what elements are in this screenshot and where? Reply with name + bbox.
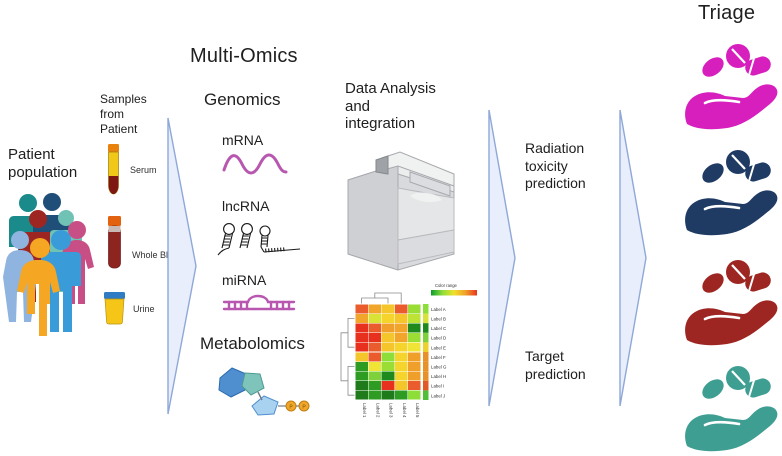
lncrna-label: lncRNA xyxy=(222,198,269,214)
mirna-duplex-icon xyxy=(220,294,298,318)
svg-text:Label G: Label G xyxy=(431,365,447,370)
sample-urine-label: Urine xyxy=(133,304,155,314)
sample-serum xyxy=(104,144,124,198)
patient-population-label: Patient population xyxy=(8,146,100,181)
triage-title: Triage xyxy=(698,2,755,25)
genomics-heading: Genomics xyxy=(204,90,281,110)
chevron-arrow-2 xyxy=(487,108,521,408)
sample-serum-label: Serum xyxy=(130,165,157,175)
metabolomics-heading: Metabolomics xyxy=(200,334,305,354)
svg-text:Label F: Label F xyxy=(431,355,446,360)
sample-urine xyxy=(101,292,129,324)
mrna-label: mRNA xyxy=(222,132,263,148)
svg-text:Label 2: Label 2 xyxy=(375,403,380,418)
multi-omics-title: Multi-Omics xyxy=(190,45,298,68)
svg-text:Label A: Label A xyxy=(431,307,446,312)
hand-navy-icon xyxy=(683,142,781,238)
mrna-wave-icon xyxy=(222,152,288,176)
chevron-arrow-1 xyxy=(166,116,202,416)
radiation-toxicity-prediction-label: Radiation toxicity prediction xyxy=(525,140,609,193)
patient-population-icon xyxy=(4,192,102,304)
heatmap-figure: Label ALabel BLabel CLabel DLabel ELabel… xyxy=(335,280,495,455)
sample-whole-blood xyxy=(104,216,126,274)
svg-text:Label 3: Label 3 xyxy=(389,403,394,418)
metabolomics-molecule-icon: P P xyxy=(212,364,322,416)
svg-text:Label H: Label H xyxy=(431,374,446,379)
svg-text:Label B: Label B xyxy=(431,317,446,322)
hand-darkred-icon xyxy=(683,252,781,348)
svg-text:Label I: Label I xyxy=(431,384,444,389)
svg-text:Color range: Color range xyxy=(435,283,458,288)
svg-text:Label J: Label J xyxy=(431,393,445,398)
lncrna-hairpin-icon xyxy=(216,222,302,258)
data-analysis-heading: Data Analysis and integration xyxy=(345,80,465,133)
hand-teal-icon xyxy=(683,358,781,454)
svg-text:Label D: Label D xyxy=(431,336,446,341)
chevron-arrow-3 xyxy=(618,108,652,408)
svg-text:Label 1: Label 1 xyxy=(362,403,367,418)
svg-text:Label E: Label E xyxy=(431,345,446,350)
mirna-label: miRNA xyxy=(222,272,266,288)
samples-from-patient-label: Samples from Patient xyxy=(100,92,162,137)
svg-text:Label 4: Label 4 xyxy=(402,403,407,418)
svg-text:Label C: Label C xyxy=(431,326,446,331)
sequencer-machine-icon xyxy=(340,142,462,272)
svg-text:Label 5: Label 5 xyxy=(415,403,420,418)
target-prediction-label: Target prediction xyxy=(525,348,609,383)
hand-magenta-icon xyxy=(683,36,781,132)
